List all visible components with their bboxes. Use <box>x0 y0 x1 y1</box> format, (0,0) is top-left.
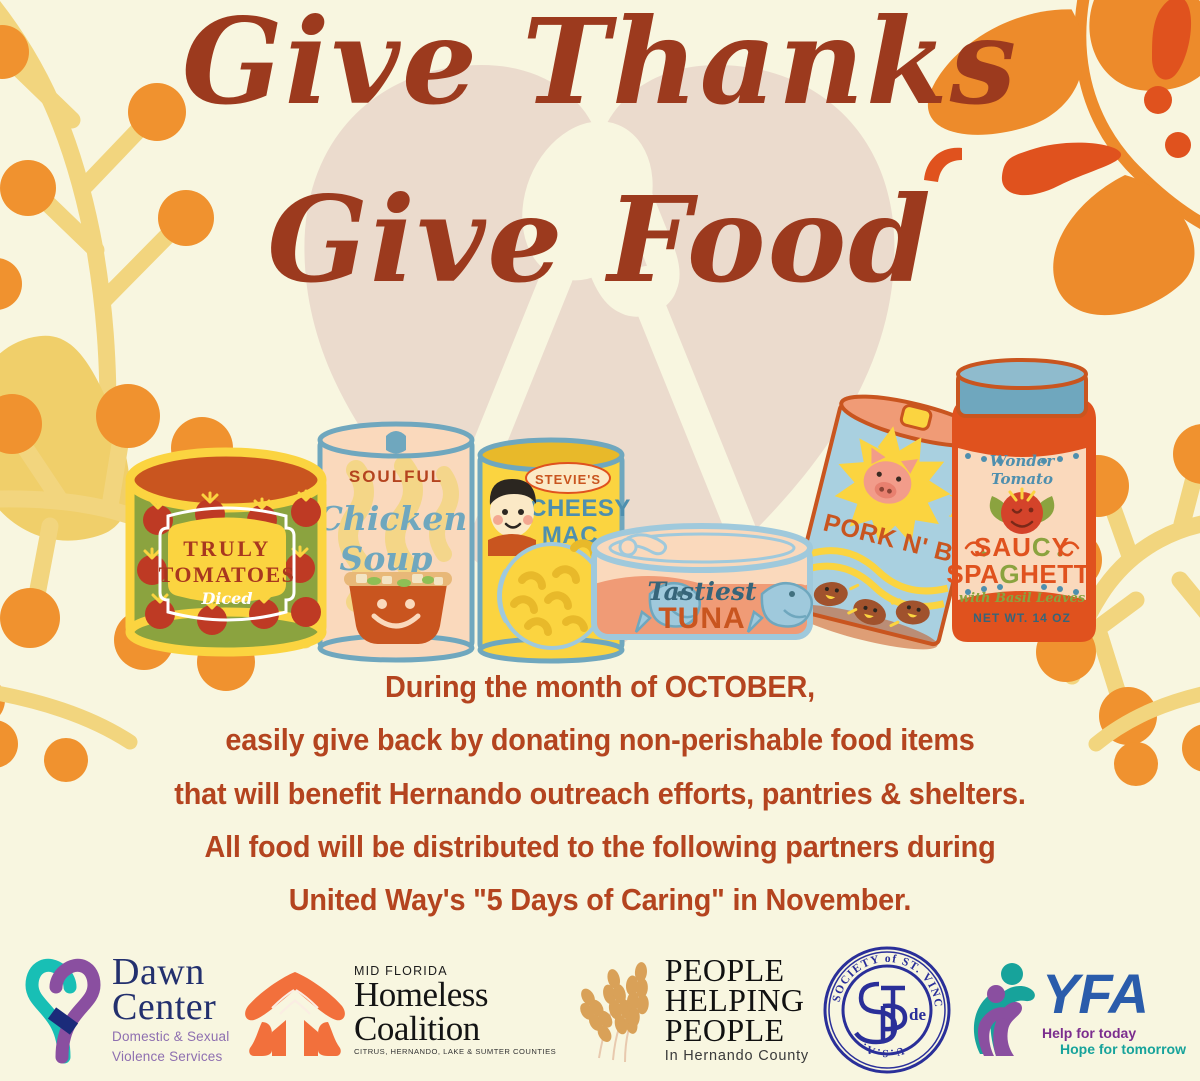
dawn-center-name-1: Dawn <box>112 955 229 990</box>
homeless-coalition-text: MID FLORIDA Homeless Coalition CITRUS, H… <box>354 964 556 1056</box>
yfa-tagline-1: Help for today <box>1042 1025 1186 1041</box>
poster-canvas: Give Thanks Give Food SOULFUL Chicken So… <box>0 0 1200 1081</box>
partner-logos: Dawn Center Domestic & Sexual Violence S… <box>0 941 1200 1081</box>
label-diced: Diced <box>200 589 252 608</box>
dawn-center-tagline-2: Violence Services <box>112 1049 229 1065</box>
label-wonder: Wonder <box>990 452 1056 470</box>
label-tuna: TUNA <box>658 602 745 635</box>
body-copy: During the month of OCTOBER, easily give… <box>0 660 1200 927</box>
label-tomatoes: TOMATOES <box>159 562 296 587</box>
label-stevies: STEVIE'S <box>535 472 601 487</box>
house-hands-icon <box>242 964 348 1056</box>
logo-dawn-center: Dawn Center Domestic & Sexual Violence S… <box>22 951 229 1069</box>
yfa-text: YFA Help for today Hope for tomorrow <box>1042 963 1186 1057</box>
can-truly-tomatoes: TRULY TOMATOES Diced <box>130 452 322 652</box>
label-spaghetti: SPAGHETTI <box>946 559 1097 589</box>
php-name-3: PEOPLE <box>665 1016 809 1046</box>
can-chicken-soup: SOULFUL Chicken Soup <box>317 424 472 660</box>
label-basil: with Basil Leaves <box>959 591 1086 606</box>
jar-saucy-spaghetti: Wonder Tomato SAUCY SPAGHETTI with Basi <box>946 360 1097 642</box>
yfa-wordmark: YFA <box>1042 963 1182 1025</box>
dawn-center-name-2: Center <box>112 990 229 1025</box>
people-helping-people-text: PEOPLE HELPING PEOPLE In Hernando County <box>665 956 809 1063</box>
body-line-2: easily give back by donating non-perisha… <box>42 713 1158 766</box>
yfa-figures-icon <box>966 960 1042 1060</box>
homeless-coalition-name-2: Coalition <box>354 1012 556 1045</box>
label-saucy: SAUCY <box>974 532 1070 562</box>
logo-yfa: YFA Help for today Hope for tomorrow <box>966 960 1186 1060</box>
logo-st-vincent-de-paul: SOCIETY of ST. VINCENT de PAUL U.S.A. de <box>821 944 953 1076</box>
svdp-seal-icon: SOCIETY of ST. VINCENT de PAUL U.S.A. de <box>821 944 953 1076</box>
yfa-tagline-2: Hope for tomorrow <box>1042 1041 1186 1057</box>
yfa-name-text: YFA <box>1042 963 1148 1025</box>
label-truly: TRULY <box>183 536 271 561</box>
label-net-weight: NET WT. 14 OZ <box>973 611 1071 625</box>
dawn-center-tagline-1: Domestic & Sexual <box>112 1029 229 1045</box>
label-cheesy: CHEESY <box>529 495 631 522</box>
logo-people-helping-people: PEOPLE HELPING PEOPLE In Hernando County <box>569 954 809 1066</box>
label-soulful: SOULFUL <box>349 467 443 486</box>
boy-mascot <box>488 479 536 556</box>
body-line-5: United Way's "5 Days of Caring" in Novem… <box>42 873 1158 926</box>
homeless-coalition-tagline: CITRUS, HERNANDO, LAKE & SUMTER COUNTIES <box>354 1047 556 1056</box>
php-tagline: In Hernando County <box>665 1048 809 1064</box>
dawn-center-text: Dawn Center Domestic & Sexual Violence S… <box>112 955 229 1065</box>
homeless-coalition-name-1: Homeless <box>354 978 556 1011</box>
label-chicken: Chicken <box>317 499 468 538</box>
svdp-de: de <box>909 1005 926 1024</box>
body-line-4: All food will be distributed to the foll… <box>42 820 1158 873</box>
body-line-3: that will benefit Hernando outreach effo… <box>42 767 1158 820</box>
body-line-1: During the month of OCTOBER, <box>42 660 1158 713</box>
wheat-icon <box>569 954 661 1066</box>
label-tomato: Tomato <box>991 470 1053 488</box>
logo-homeless-coalition: MID FLORIDA Homeless Coalition CITRUS, H… <box>242 964 556 1056</box>
ribbon-heart-icon <box>22 951 104 1069</box>
can-tuna: Tastiest TUNA <box>594 526 812 637</box>
